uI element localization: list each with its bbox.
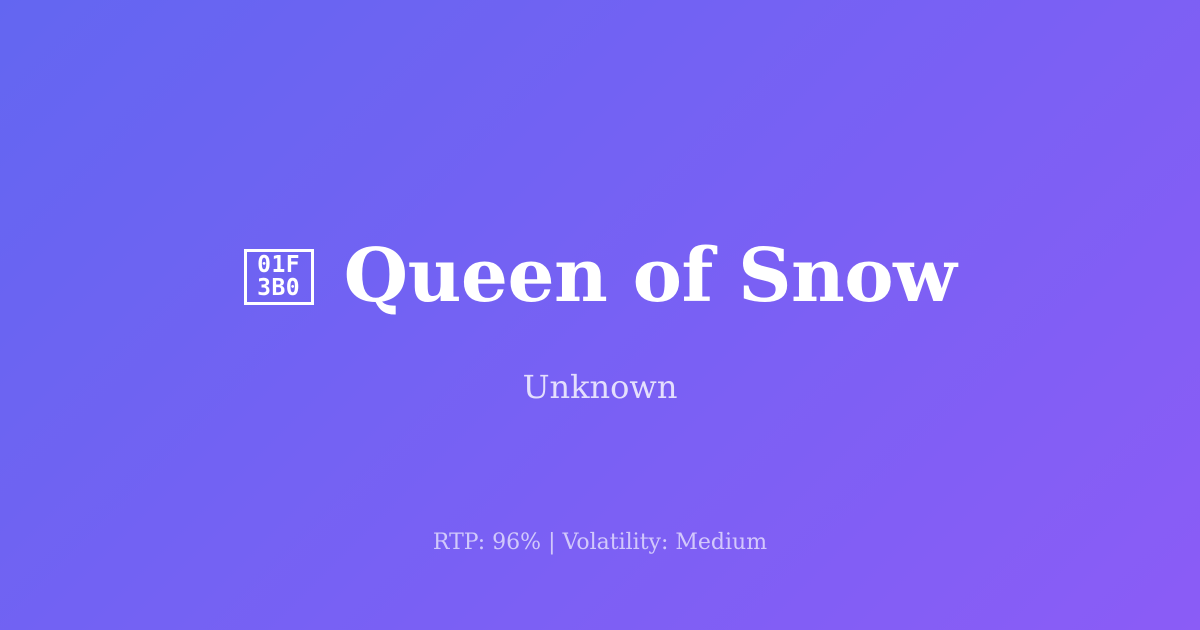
- slot-machine-icon: 01F 3B0: [244, 249, 314, 305]
- stats-line: RTP: 96% | Volatility: Medium: [0, 528, 1200, 558]
- emoji-codepoint-upper: 01F: [257, 254, 300, 277]
- provider-label: Unknown: [0, 366, 1200, 408]
- page-title: Queen of Snow: [344, 232, 957, 320]
- emoji-codepoint-lower: 3B0: [257, 277, 300, 300]
- title-row: 01F 3B0 Queen of Snow: [0, 232, 1200, 320]
- og-share-card: 01F 3B0 Queen of Snow Unknown RTP: 96% |…: [0, 0, 1200, 630]
